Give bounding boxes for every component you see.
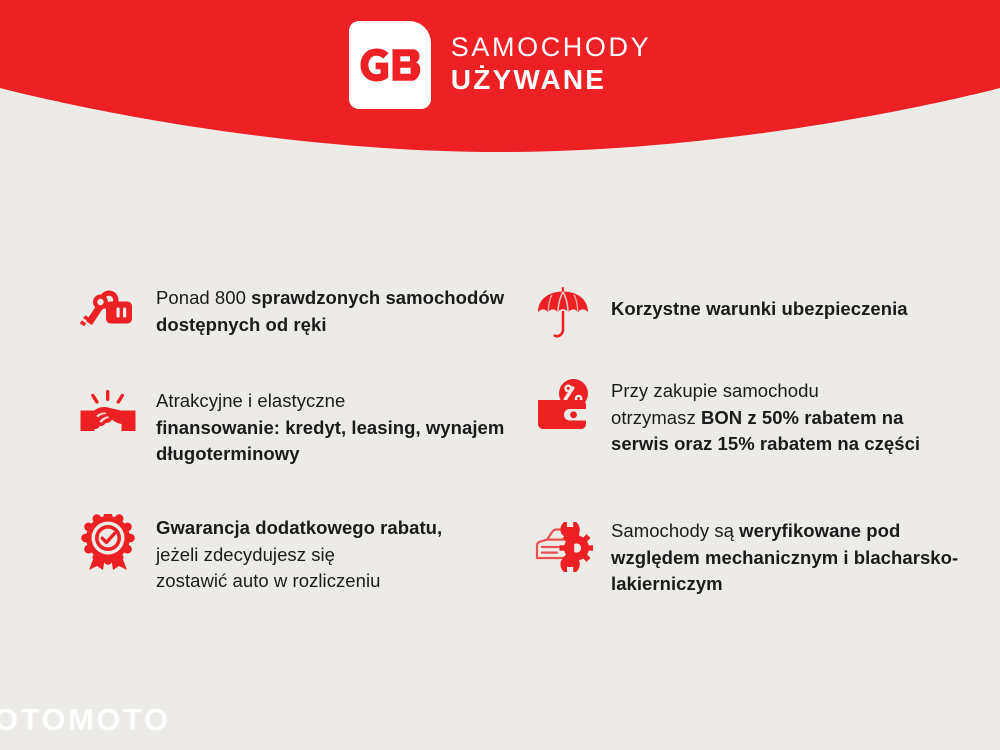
feature-text: Korzystne warunki ubezpieczenia [611,282,908,323]
keys-icon [78,282,138,344]
feature-item: Przy zakupie samochoduotrzymasz BON z 50… [533,375,963,458]
feature-text: Atrakcyjne i elastycznefinansowanie: kre… [156,385,508,468]
feature-item: Samochody są weryfikowane pod względem m… [533,515,963,598]
feature-text: Samochody są weryfikowane pod względem m… [611,515,963,598]
otomoto-watermark: OTOMOTO [0,702,171,738]
feature-item: Gwarancja dodatkowego rabatu,jeżeli zdec… [78,512,442,595]
feature-item: Atrakcyjne i elastycznefinansowanie: kre… [78,385,508,468]
brand-title-line2: UŻYWANE [451,66,651,94]
brand-lockup: SAMOCHODY UŻYWANE [0,0,1000,130]
feature-text: Ponad 800 sprawdzonych samochodów dostęp… [156,282,508,338]
feature-text: Przy zakupie samochoduotrzymasz BON z 50… [611,375,963,458]
gb-logo-icon [349,21,431,109]
poster-canvas: SAMOCHODY UŻYWANE [0,0,1000,750]
umbrella-icon [533,282,593,344]
brand-title-line1: SAMOCHODY [451,34,651,61]
car-wrench-gear-icon [533,515,593,577]
brand-title: SAMOCHODY UŻYWANE [451,34,651,96]
feature-item: Korzystne warunki ubezpieczenia [533,282,908,344]
wallet-percent-icon [533,375,593,437]
feature-item: Ponad 800 sprawdzonych samochodów dostęp… [78,282,508,344]
feature-text: Gwarancja dodatkowego rabatu,jeżeli zdec… [156,512,442,595]
award-rosette-icon [78,512,138,574]
handshake-icon [78,385,138,447]
